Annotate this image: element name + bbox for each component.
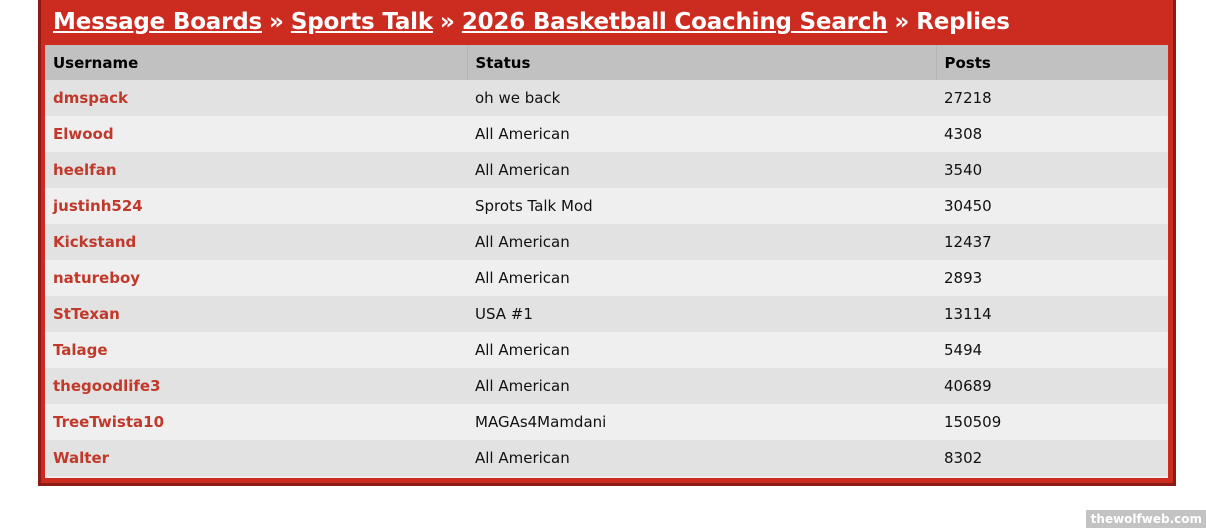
table-row: dmspackoh we back27218 xyxy=(45,80,1168,116)
site-watermark: thewolfweb.com xyxy=(1086,510,1206,528)
username-link[interactable]: dmspack xyxy=(53,89,128,107)
cell-status: oh we back xyxy=(467,80,936,116)
table-row: WalterAll American8302 xyxy=(45,440,1168,476)
table-header: Username Status Posts xyxy=(45,45,1168,80)
cell-status: All American xyxy=(467,224,936,260)
username-link[interactable]: Elwood xyxy=(53,125,114,143)
cell-posts: 8302 xyxy=(936,440,1168,476)
cell-posts: 3540 xyxy=(936,152,1168,188)
replies-table-container: Username Status Posts dmspackoh we back2… xyxy=(45,45,1168,478)
column-header-status[interactable]: Status xyxy=(467,45,936,80)
cell-status: All American xyxy=(467,260,936,296)
cell-status: MAGAs4Mamdani xyxy=(467,404,936,440)
cell-username: thegoodlife3 xyxy=(45,368,467,404)
cell-username: natureboy xyxy=(45,260,467,296)
table-row: KickstandAll American12437 xyxy=(45,224,1168,260)
table-body: dmspackoh we back27218ElwoodAll American… xyxy=(45,80,1168,476)
breadcrumb-separator: » xyxy=(887,9,916,35)
cell-status: All American xyxy=(467,116,936,152)
breadcrumb-separator: » xyxy=(262,9,291,35)
cell-username: Kickstand xyxy=(45,224,467,260)
cell-username: Walter xyxy=(45,440,467,476)
cell-status: All American xyxy=(467,440,936,476)
column-header-username[interactable]: Username xyxy=(45,45,467,80)
cell-posts: 27218 xyxy=(936,80,1168,116)
username-link[interactable]: natureboy xyxy=(53,269,140,287)
cell-posts: 4308 xyxy=(936,116,1168,152)
breadcrumb-separator: » xyxy=(433,9,462,35)
cell-username: justinh524 xyxy=(45,188,467,224)
cell-status: USA #1 xyxy=(467,296,936,332)
cell-status: Sprots Talk Mod xyxy=(467,188,936,224)
breadcrumb-item-message-boards[interactable]: Message Boards xyxy=(53,9,262,35)
cell-status: All American xyxy=(467,368,936,404)
column-header-posts[interactable]: Posts xyxy=(936,45,1168,80)
cell-posts: 12437 xyxy=(936,224,1168,260)
table-row: thegoodlife3All American40689 xyxy=(45,368,1168,404)
breadcrumb-item-sports-talk[interactable]: Sports Talk xyxy=(291,9,433,35)
username-link[interactable]: Kickstand xyxy=(53,233,136,251)
username-link[interactable]: StTexan xyxy=(53,305,120,323)
cell-username: dmspack xyxy=(45,80,467,116)
username-link[interactable]: TreeTwista10 xyxy=(53,413,164,431)
cell-posts: 30450 xyxy=(936,188,1168,224)
cell-username: StTexan xyxy=(45,296,467,332)
table-row: justinh524Sprots Talk Mod30450 xyxy=(45,188,1168,224)
forum-panel: Message Boards»Sports Talk»2026 Basketba… xyxy=(38,0,1176,486)
cell-posts: 40689 xyxy=(936,368,1168,404)
cell-posts: 150509 xyxy=(936,404,1168,440)
username-link[interactable]: Walter xyxy=(53,449,109,467)
table-row: TreeTwista10MAGAs4Mamdani150509 xyxy=(45,404,1168,440)
cell-username: Talage xyxy=(45,332,467,368)
username-link[interactable]: Talage xyxy=(53,341,108,359)
cell-posts: 5494 xyxy=(936,332,1168,368)
cell-username: TreeTwista10 xyxy=(45,404,467,440)
breadcrumb-item-2026-basketball-coaching-search[interactable]: 2026 Basketball Coaching Search xyxy=(462,9,888,35)
table-row: StTexanUSA #113114 xyxy=(45,296,1168,332)
cell-status: All American xyxy=(467,332,936,368)
cell-username: heelfan xyxy=(45,152,467,188)
table-row: TalageAll American5494 xyxy=(45,332,1168,368)
cell-status: All American xyxy=(467,152,936,188)
table-row: natureboyAll American2893 xyxy=(45,260,1168,296)
table-row: ElwoodAll American4308 xyxy=(45,116,1168,152)
username-link[interactable]: justinh524 xyxy=(53,197,143,215)
table-row: heelfanAll American3540 xyxy=(45,152,1168,188)
cell-posts: 2893 xyxy=(936,260,1168,296)
replies-table: Username Status Posts dmspackoh we back2… xyxy=(45,45,1168,476)
cell-posts: 13114 xyxy=(936,296,1168,332)
username-link[interactable]: thegoodlife3 xyxy=(53,377,161,395)
breadcrumb-item-replies: Replies xyxy=(916,9,1009,35)
breadcrumb: Message Boards»Sports Talk»2026 Basketba… xyxy=(41,0,1173,44)
cell-username: Elwood xyxy=(45,116,467,152)
table-header-row: Username Status Posts xyxy=(45,45,1168,80)
username-link[interactable]: heelfan xyxy=(53,161,117,179)
